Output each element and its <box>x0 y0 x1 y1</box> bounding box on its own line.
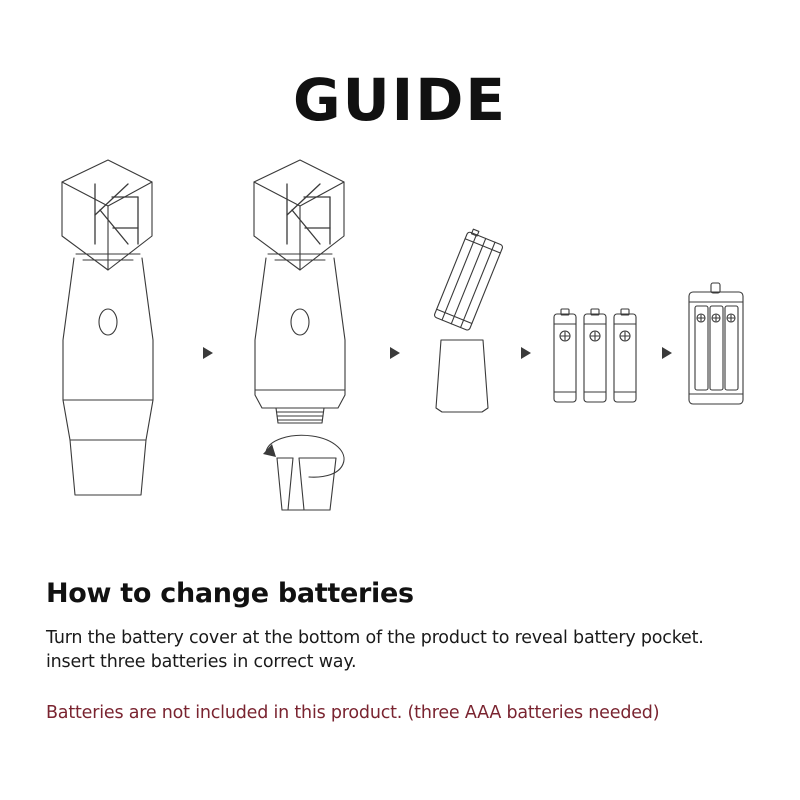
step-1-lightstick-complete <box>62 160 153 495</box>
step-3-holder-removed <box>434 228 505 412</box>
arrow-3 <box>521 347 531 359</box>
step-2-cover-unscrew <box>254 160 345 510</box>
arrow-2 <box>390 347 400 359</box>
arrow-4 <box>662 347 672 359</box>
page-title: GUIDE <box>0 66 800 134</box>
guide-page: GUIDE <box>0 0 800 800</box>
instruction-diagram <box>0 140 800 550</box>
battery-note: Batteries are not included in this produ… <box>46 703 659 723</box>
instruction-line-2: insert three batteries in correct way. <box>46 652 356 672</box>
arrow-1 <box>203 347 213 359</box>
instruction-line-1: Turn the battery cover at the bottom of … <box>46 628 704 648</box>
section-heading: How to change batteries <box>46 578 414 609</box>
step-5-holder-loaded <box>689 283 743 404</box>
step-4-three-batteries <box>554 309 636 402</box>
